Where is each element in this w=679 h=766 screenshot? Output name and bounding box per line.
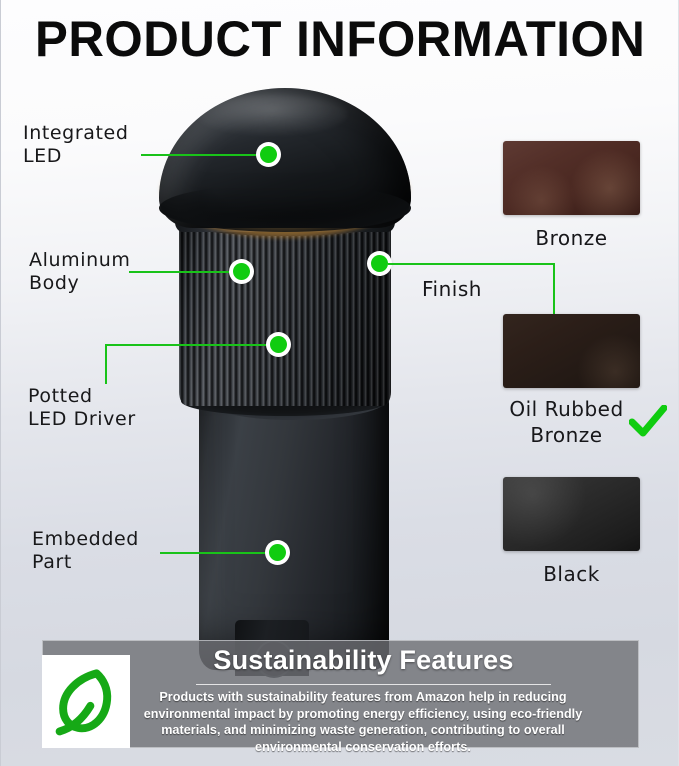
finish-caption-black: Black <box>493 562 650 586</box>
product-illustration <box>151 80 441 660</box>
finish-label: Finish <box>422 277 482 301</box>
callout-line-aluminum-body <box>129 271 237 273</box>
banner-divider <box>196 684 551 685</box>
callout-label-integrated-led: Integrated LED <box>23 122 129 168</box>
callout-dot-potted-led-driver <box>270 336 287 353</box>
finish-swatch-oil-rubbed-bronze[interactable] <box>503 314 640 388</box>
callout-line-integrated-led <box>141 154 266 156</box>
callout-label-embedded-part: Embedded Part <box>32 528 139 574</box>
leaf-icon <box>42 655 130 748</box>
finish-caption-bronze: Bronze <box>493 226 650 250</box>
callout-line-embedded-part <box>160 552 273 554</box>
finish-caption-oil-rubbed-bronze: Oil Rubbed Bronze <box>488 396 645 448</box>
leaf-icon-box <box>42 655 130 748</box>
callout-dot-aluminum-body <box>233 263 250 280</box>
callout-dot-finish <box>371 255 388 272</box>
page-title: PRODUCT INFORMATION <box>35 13 648 65</box>
callout-label-potted-led-driver: Potted LED Driver <box>28 385 136 431</box>
sustainability-body-text: Products with sustainability features fr… <box>139 689 587 755</box>
finish-swatch-black[interactable] <box>503 477 640 551</box>
callout-dot-integrated-led <box>260 146 277 163</box>
dome-lip-graphic <box>159 184 411 232</box>
callout-dot-embedded-part <box>269 544 286 561</box>
finish-swatch-bronze[interactable] <box>503 141 640 215</box>
fin-body-graphic <box>179 216 391 406</box>
callout-line-potted-led-driver-horizontal <box>105 344 275 346</box>
sustainability-heading: Sustainability Features <box>131 643 596 677</box>
callout-line-finish-vertical <box>553 263 555 315</box>
check-icon <box>629 405 667 439</box>
product-information-infographic: PRODUCT INFORMATION Integrated LED Alumi… <box>0 0 679 766</box>
callout-label-aluminum-body: Aluminum Body <box>29 249 131 295</box>
dome-highlight-graphic <box>197 94 347 134</box>
callout-line-potted-led-driver-vertical <box>105 344 107 384</box>
callout-line-finish-horizontal <box>388 263 555 265</box>
